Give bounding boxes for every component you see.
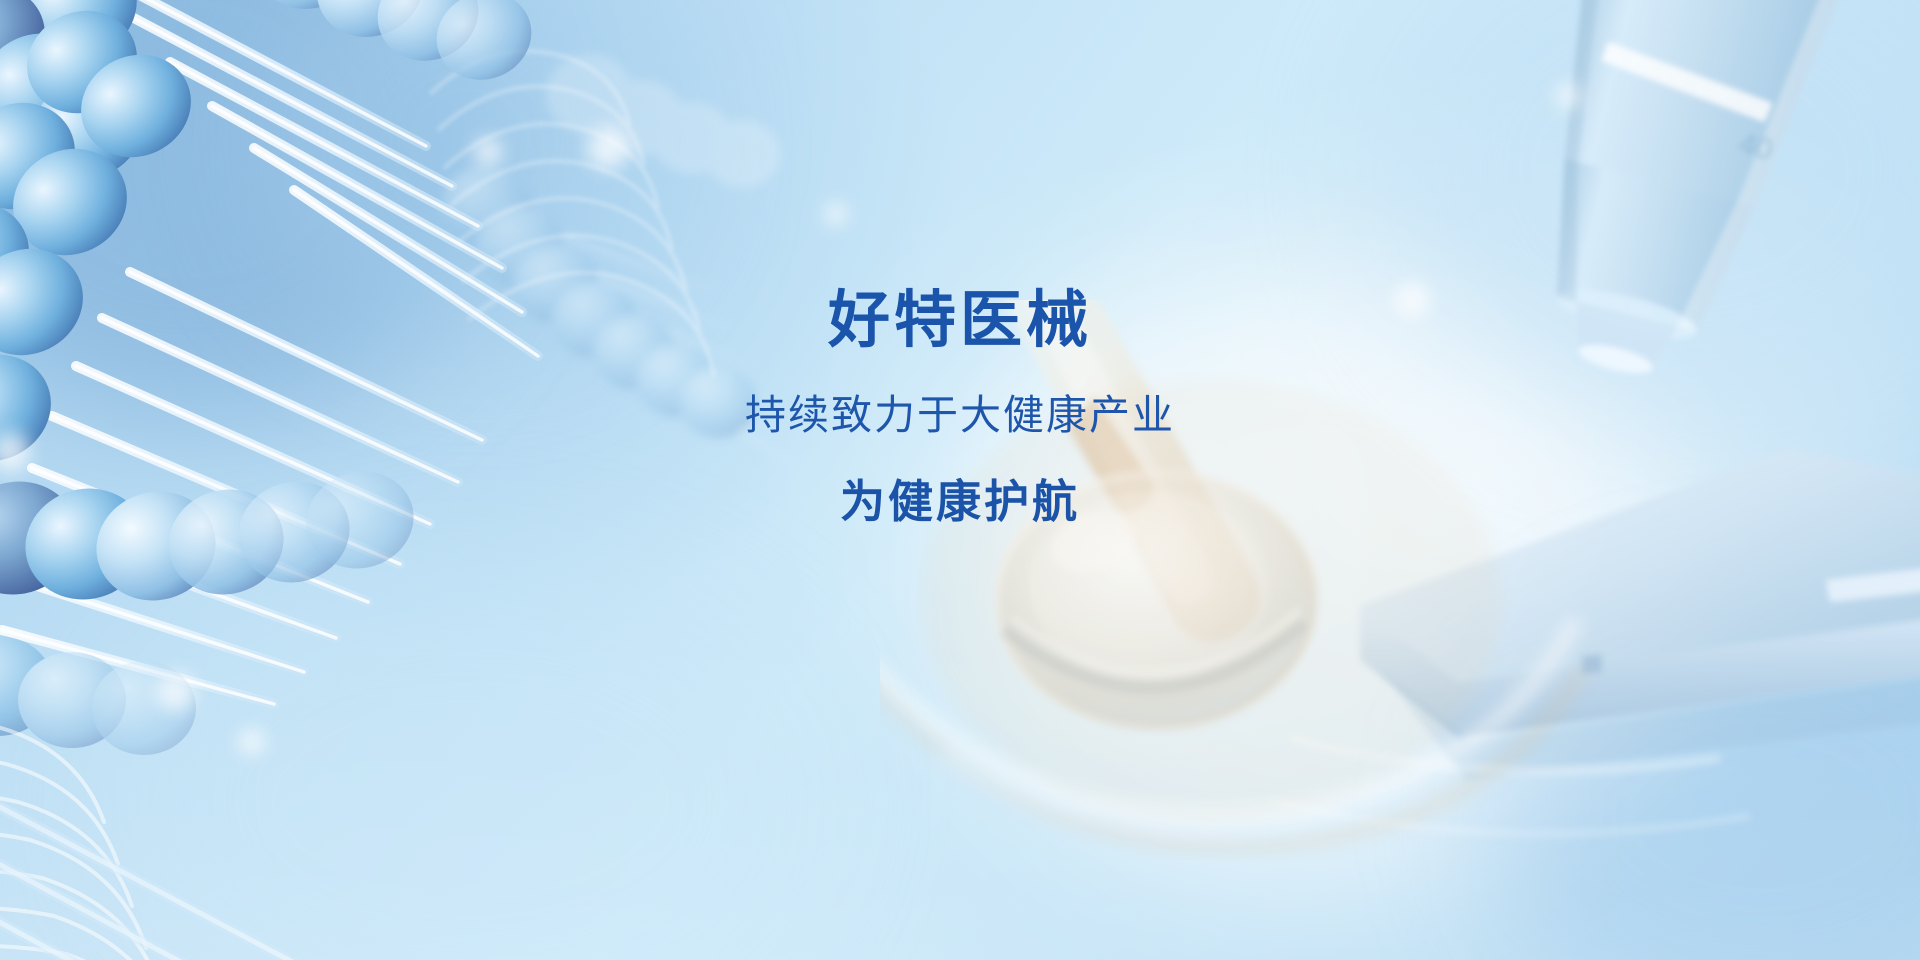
bokeh-dot <box>157 673 195 711</box>
bokeh-dot <box>587 127 629 169</box>
glassware-icon <box>880 300 1600 860</box>
bokeh-dot <box>1556 84 1580 108</box>
bokeh-dot <box>825 203 847 225</box>
bokeh-dot <box>474 138 502 166</box>
bokeh-dot <box>239 729 265 755</box>
hero-banner: 40 <box>0 0 1920 960</box>
bokeh-dot <box>1395 283 1429 317</box>
